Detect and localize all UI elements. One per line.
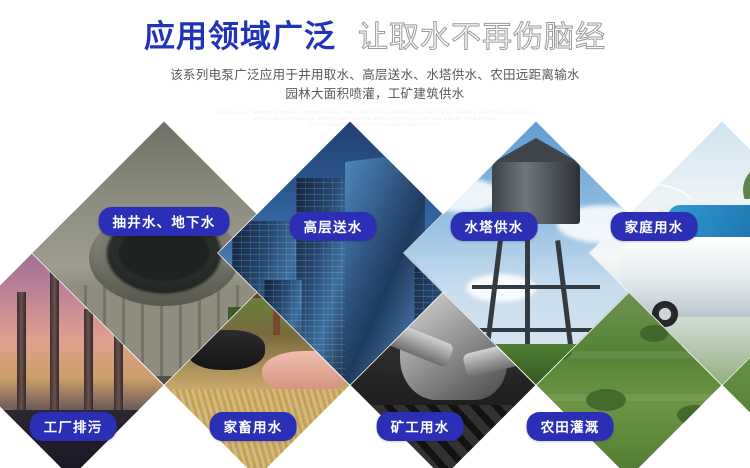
badge-factory-discharge[interactable]: 工厂排污 [30, 412, 117, 441]
badge-factory-discharge-label: 工厂排污 [44, 420, 103, 436]
badge-livestock-water-label: 家畜用水 [224, 420, 283, 436]
badge-high-rise-supply[interactable]: 高层送水 [290, 212, 377, 241]
badge-household-water-label: 家庭用水 [625, 220, 684, 236]
title-main: 应用领域广泛 [144, 22, 336, 53]
header: 应用领域广泛 让取水不再伤脑经 该系列电泵广泛应用于井用取水、高层送水、水塔供水… [0, 0, 750, 145]
badge-farmland-irrigation[interactable]: 农田灌溉 [527, 412, 614, 441]
badge-water-tower-supply[interactable]: 水塔供水 [451, 212, 538, 241]
badge-well-water-label: 抽井水、地下水 [113, 215, 216, 231]
fineprint-line-3: VISION BEAUTY INVITE CITY UNKNOWN NEW AC… [0, 122, 750, 128]
title-sub: 让取水不再伤脑经 [358, 23, 606, 53]
badge-household-water[interactable]: 家庭用水 [611, 212, 698, 241]
page-title: 应用领域广泛 让取水不再伤脑经 [0, 0, 750, 53]
diamond-mosaic: 抽井水、地下水 高层送水 水塔供水 家庭用水 工厂排污 家畜用水 矿工用水 农田… [0, 150, 750, 440]
description-line-1: 该系列电泵广泛应用于井用取水、高层送水、水塔供水、农田远距离输水 [0, 65, 750, 84]
badge-livestock-water[interactable]: 家畜用水 [210, 412, 297, 441]
fineprint: DELTA HAS A PERFECT MODELING INTEGRATION… [0, 110, 750, 128]
promo-banner: 应用领域广泛 让取水不再伤脑经 该系列电泵广泛应用于井用取水、高层送水、水塔供水… [0, 0, 750, 468]
description: 该系列电泵广泛应用于井用取水、高层送水、水塔供水、农田远距离输水 园林大面积喷灌… [0, 65, 750, 103]
badge-high-rise-supply-label: 高层送水 [304, 220, 363, 236]
badge-water-tower-supply-label: 水塔供水 [465, 220, 524, 236]
badge-miner-water-label: 矿工用水 [391, 420, 450, 436]
badge-well-water[interactable]: 抽井水、地下水 [99, 207, 230, 236]
description-line-2: 园林大面积喷灌，工矿建筑供水 [0, 84, 750, 103]
badge-farmland-irrigation-label: 农田灌溉 [541, 420, 600, 436]
badge-miner-water[interactable]: 矿工用水 [377, 412, 464, 441]
